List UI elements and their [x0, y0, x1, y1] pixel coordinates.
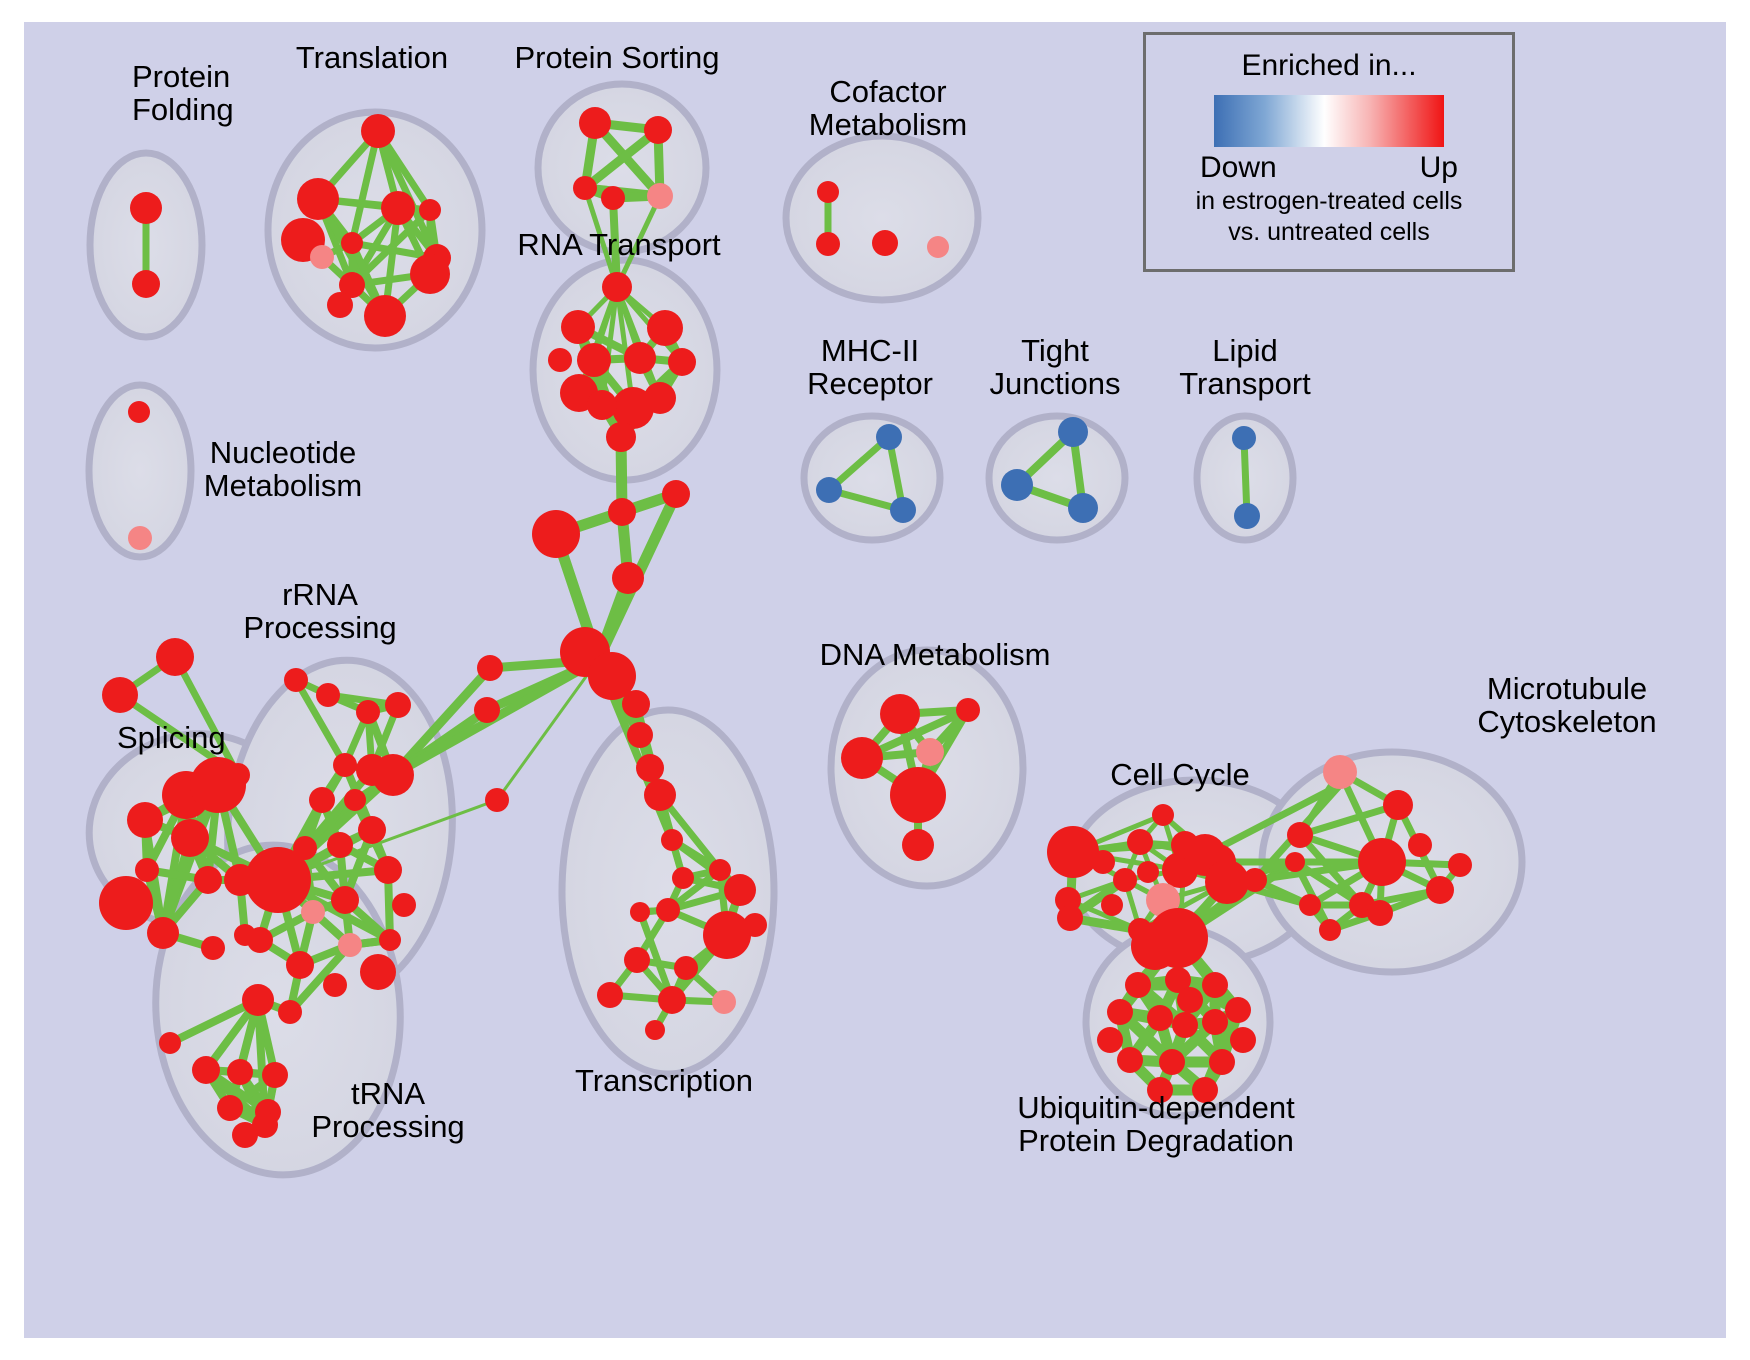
cluster-label-lipid-transport: Lipid Transport	[1179, 334, 1311, 401]
cluster-label-splicing: Splicing	[117, 721, 226, 754]
cluster-label-cell-cycle: Cell Cycle	[1110, 758, 1250, 791]
cluster-label-rna-transport: RNA Transport	[517, 228, 720, 261]
legend-box: Enriched in... Down Up in estrogen-treat…	[1143, 32, 1515, 272]
cluster-label-protein-folding: Protein Folding	[132, 60, 234, 127]
cluster-label-nucleotide-metabolism: Nucleotide Metabolism	[204, 436, 363, 503]
cluster-label-dna-metabolism: DNA Metabolism	[820, 638, 1051, 671]
cluster-label-rrna-processing: rRNA Processing	[243, 578, 396, 645]
legend-endpoints: Down Up	[1200, 151, 1458, 185]
hull-cofactor	[786, 136, 978, 300]
legend-down-label: Down	[1200, 151, 1277, 185]
cluster-label-mhc-ii-receptor: MHC-II Receptor	[807, 334, 933, 401]
cluster-label-tight-junctions: Tight Junctions	[990, 334, 1121, 401]
legend-title: Enriched in...	[1241, 49, 1416, 83]
color-scale-bar	[1214, 95, 1444, 147]
legend-caption-line1: in estrogen-treated cells	[1196, 187, 1463, 216]
cluster-label-transcription: Transcription	[575, 1064, 753, 1097]
cluster-label-ubiquitin: Ubiquitin-dependent Protein Degradation	[1017, 1091, 1295, 1158]
legend-caption-line2: vs. untreated cells	[1228, 218, 1430, 247]
cluster-label-protein-sorting: Protein Sorting	[514, 41, 719, 74]
network-figure: Protein FoldingTranslationProtein Sortin…	[0, 0, 1750, 1360]
cluster-label-trna-processing: tRNA Processing	[311, 1077, 464, 1144]
legend-up-label: Up	[1420, 151, 1458, 185]
cluster-label-microtubule: Microtubule Cytoskeleton	[1477, 672, 1656, 739]
cluster-label-cofactor-metabolism: Cofactor Metabolism	[809, 75, 968, 142]
cluster-label-translation: Translation	[296, 41, 448, 74]
